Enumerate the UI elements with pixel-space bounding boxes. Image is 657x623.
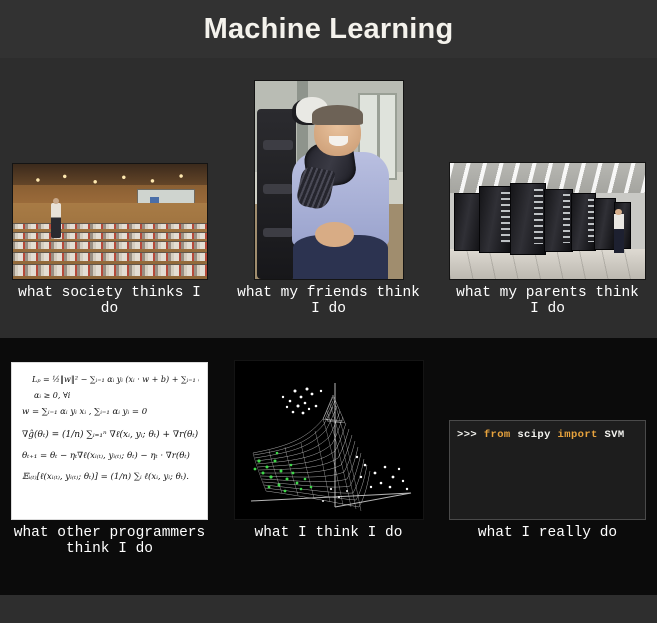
panel-math-image-wrap: Lₚ = ½‖w‖² − ∑ᵢ₌₁ αᵢ yᵢ (xᵢ · w + b) + ∑… — [0, 338, 219, 520]
man-hair — [312, 105, 362, 125]
panel-friends: what my friends think I do — [219, 58, 438, 338]
supercomputer-racks-image — [449, 162, 646, 280]
meme-image: Machine Learning — [0, 0, 657, 623]
caption-other-programmers: what other programmers think I do — [0, 520, 219, 557]
server-rack — [510, 183, 545, 255]
robot-body — [257, 109, 295, 279]
panel-what-i-think: what I think I do — [219, 338, 438, 595]
svm-hyperplane-plot-image — [234, 360, 424, 520]
module-name: scipy — [511, 429, 558, 441]
server-rack — [544, 189, 573, 253]
caption-society: what society thinks I do — [0, 280, 219, 317]
server-rack — [594, 198, 615, 250]
robot-joint-upper — [263, 140, 293, 150]
server-rack — [479, 186, 512, 253]
caption-what-i-think: what I think I do — [219, 520, 438, 541]
caption-friends: what my friends think I do — [219, 280, 438, 317]
equation-lagrangian: Lₚ = ½‖w‖² − ∑ᵢ₌₁ αᵢ yᵢ (xᵢ · w + b) + ∑… — [32, 375, 199, 384]
man-with-robot-image — [254, 80, 404, 280]
panel-other-programmers: Lₚ = ½‖w‖² − ∑ᵢ₌₁ αᵢ yᵢ (xᵢ · w + b) + ∑… — [0, 338, 219, 595]
hyperplane-surface-svg — [235, 361, 423, 519]
caption-what-i-really-do: what I really do — [438, 520, 657, 541]
imported-symbol: SVM — [598, 429, 625, 441]
plot-canvas — [235, 361, 423, 519]
panel-code-image-wrap: >>> from scipy import SVM — [438, 338, 657, 520]
panel-society-image-wrap — [0, 58, 219, 280]
robot-joint-lower — [263, 228, 293, 238]
panel-plot-image-wrap — [219, 338, 438, 520]
page-title: Machine Learning — [204, 13, 454, 46]
robot-joint-mid — [263, 184, 293, 194]
title-bar: Machine Learning — [0, 0, 657, 58]
equation-gradient: ∇ĝ(θₜ) = (1/n) ∑ᵢ₌₁ⁿ ∇ℓ(xᵢ, yᵢ; θₜ) + ∇r… — [22, 429, 199, 440]
keyword-import: import — [558, 429, 598, 441]
console-line: >>> from scipy import SVM — [457, 429, 638, 441]
auditorium-machines-image — [12, 163, 208, 280]
footer-band — [0, 595, 657, 623]
panel-parents-image-wrap — [438, 58, 657, 280]
panel-society: what society thinks I do — [0, 58, 219, 338]
equation-sgd-update: θₜ₊₁ = θₜ − ηₜ∇ℓ(xᵢ₍ₜ₎, yᵢ₍ₜ₎; θₜ) − ηₜ … — [22, 450, 199, 461]
server-room-technician — [614, 214, 624, 253]
panel-friends-image-wrap — [219, 58, 438, 280]
server-rack — [571, 193, 596, 251]
svm-equations-image: Lₚ = ½‖w‖² − ∑ᵢ₌₁ αᵢ yᵢ (xᵢ · w + b) + ∑… — [11, 362, 208, 520]
python-console-image: >>> from scipy import SVM — [449, 420, 646, 520]
panel-parents: what my parents think I do — [438, 58, 657, 338]
hall-person — [51, 203, 61, 238]
panel-what-i-really-do: >>> from scipy import SVM what I really … — [438, 338, 657, 595]
machine-rows — [13, 199, 207, 280]
equation-alpha-constraint: αᵢ ≥ 0, ∀i — [34, 391, 199, 400]
caption-parents: what my parents think I do — [438, 280, 657, 317]
equation-expectation: 𝔼ᵢ₍ₜ₎[ℓ(xᵢ₍ₜ₎, yᵢ₍ₜ₎; θₜ)] = (1/n) ∑ᵢ ℓ(… — [22, 471, 199, 482]
keyword-from: from — [484, 429, 511, 441]
console-prompt: >>> — [457, 429, 484, 441]
equation-weight-vector: w = ∑ᵢ₌₁ αᵢ yᵢ xᵢ , ∑ᵢ₌₁ αᵢ yᵢ = 0 — [22, 407, 199, 417]
man-clasped-hands — [315, 222, 353, 248]
